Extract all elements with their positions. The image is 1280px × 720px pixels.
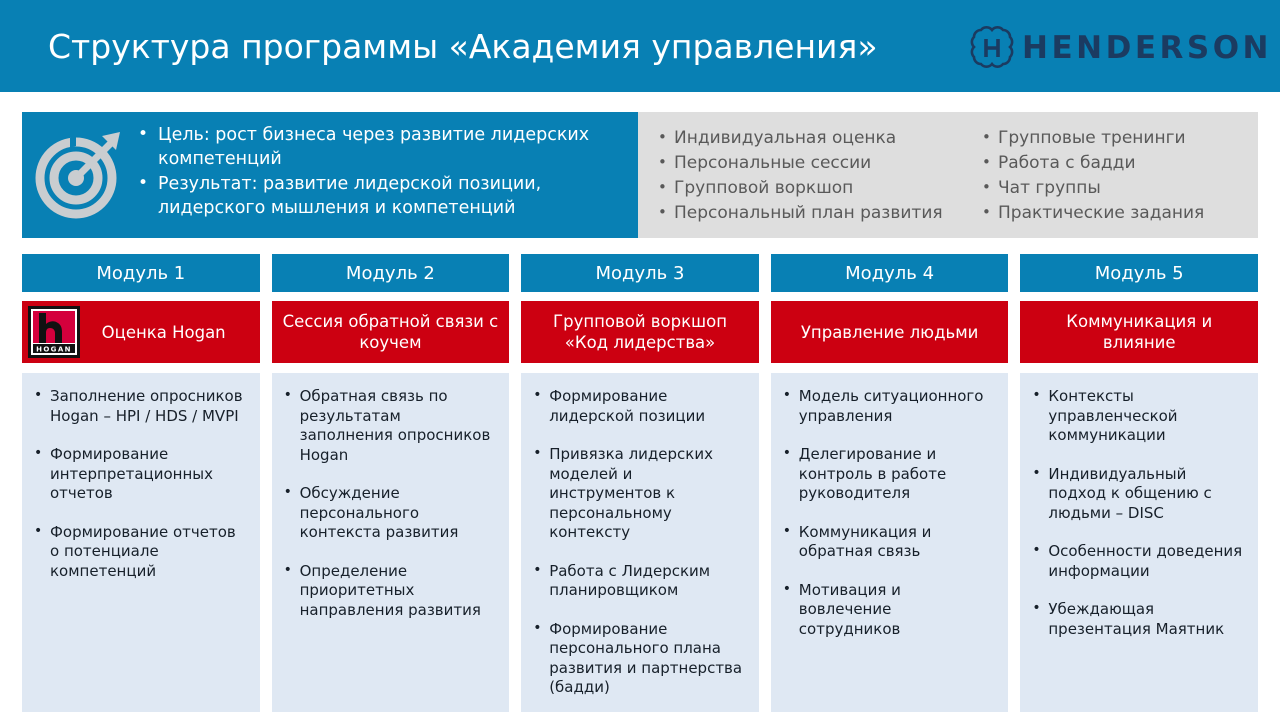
- brand-name: HENDERSON: [1022, 33, 1272, 64]
- module-bullet: Формирование отчетов о потенциале компет…: [30, 523, 248, 582]
- target-arrow-icon: [32, 126, 128, 226]
- service-item: Персональные сессии: [656, 151, 968, 176]
- module-bullet-list-4: Модель ситуационного управления Делегиро…: [779, 387, 997, 639]
- services-right-column: Групповые тренинги Работа с бадди Чат гр…: [968, 126, 1248, 238]
- module-body-5: Контексты управленческой коммуникации Ин…: [1020, 373, 1258, 712]
- service-item: Персональный план развития: [656, 201, 968, 226]
- service-item: Работа с бадди: [980, 151, 1248, 176]
- service-item: Чат группы: [980, 176, 1248, 201]
- module-bullet: Обсуждение персонального контекста разви…: [280, 484, 498, 543]
- module-header-1[interactable]: Модуль 1: [22, 254, 260, 292]
- module-title-1[interactable]: HOGAN Оценка Hogan: [22, 301, 260, 363]
- module-bullet: Формирование персонального плана развити…: [529, 620, 747, 698]
- row-spacer: [22, 292, 1258, 301]
- module-bullet-list-1: Заполнение опросников Hogan – HPI / HDS …: [30, 387, 248, 581]
- hogan-logo-icon: HOGAN: [28, 306, 80, 358]
- module-bullet: Модель ситуационного управления: [779, 387, 997, 426]
- module-title-5[interactable]: Коммуникация и влияние: [1020, 301, 1258, 363]
- module-bullet: Делегирование и контроль в работе руково…: [779, 445, 997, 504]
- row-spacer: [22, 363, 1258, 373]
- goal-box: Цель: рост бизнеса через развитие лидерс…: [22, 112, 638, 238]
- module-body-2: Обратная связь по результатам заполнения…: [272, 373, 510, 712]
- module-header-4[interactable]: Модуль 4: [771, 254, 1009, 292]
- module-title-row: HOGAN Оценка Hogan Сессия обратной связи…: [22, 301, 1258, 363]
- module-bullet-list-5: Контексты управленческой коммуникации Ин…: [1028, 387, 1246, 639]
- service-item: Групповой воркшоп: [656, 176, 968, 201]
- module-header-2[interactable]: Модуль 2: [272, 254, 510, 292]
- goal-bullet: Результат: развитие лидерской позиции, л…: [136, 172, 638, 220]
- goal-bullet-list: Цель: рост бизнеса через развитие лидерс…: [136, 123, 638, 221]
- module-bullet: Контексты управленческой коммуникации: [1028, 387, 1246, 446]
- module-title-3[interactable]: Групповой воркшоп «Код лидерства»: [521, 301, 759, 363]
- module-bullet: Работа с Лидерским планировщиком: [529, 562, 747, 601]
- module-bullet-list-3: Формирование лидерской позиции Привязка …: [529, 387, 747, 698]
- page-title: Структура программы «Академия управления…: [48, 27, 878, 66]
- svg-text:HOGAN: HOGAN: [36, 345, 72, 353]
- module-body-1: Заполнение опросников Hogan – HPI / HDS …: [22, 373, 260, 712]
- module-title-text-1: Оценка Hogan: [102, 322, 226, 343]
- module-bullet: Обратная связь по результатам заполнения…: [280, 387, 498, 465]
- module-bullet: Коммуникация и обратная связь: [779, 523, 997, 562]
- module-bullet: Формирование интерпретационных отчетов: [30, 445, 248, 504]
- module-bullet: Формирование лидерской позиции: [529, 387, 747, 426]
- module-header-row: Модуль 1 Модуль 2 Модуль 3 Модуль 4 Моду…: [22, 254, 1258, 292]
- services-left-column: Индивидуальная оценка Персональные сесси…: [638, 126, 968, 238]
- slide-root: Структура программы «Академия управления…: [0, 0, 1280, 720]
- module-body-row: Заполнение опросников Hogan – HPI / HDS …: [22, 373, 1258, 712]
- module-bullet: Привязка лидерских моделей и инструменто…: [529, 445, 747, 543]
- module-bullet: Заполнение опросников Hogan – HPI / HDS …: [30, 387, 248, 426]
- service-item: Групповые тренинги: [980, 126, 1248, 151]
- module-bullet: Убеждающая презентация Маятник: [1028, 600, 1246, 639]
- module-header-5[interactable]: Модуль 5: [1020, 254, 1258, 292]
- module-title-4[interactable]: Управление людьми: [771, 301, 1009, 363]
- slide-header: Структура программы «Академия управления…: [0, 0, 1280, 92]
- services-box: Индивидуальная оценка Персональные сесси…: [638, 112, 1258, 238]
- goal-bullet: Цель: рост бизнеса через развитие лидерс…: [136, 123, 638, 171]
- module-header-3[interactable]: Модуль 3: [521, 254, 759, 292]
- module-body-4: Модель ситуационного управления Делегиро…: [771, 373, 1009, 712]
- module-bullet: Индивидуальный подход к общению с людьми…: [1028, 465, 1246, 524]
- module-bullet: Особенности доведения информации: [1028, 542, 1246, 581]
- module-bullet: Мотивация и вовлечение сотрудников: [779, 581, 997, 640]
- module-title-2[interactable]: Сессия обратной связи с коучем: [272, 301, 510, 363]
- module-bullet-list-2: Обратная связь по результатам заполнения…: [280, 387, 498, 620]
- service-item: Практические задания: [980, 201, 1248, 226]
- module-body-3: Формирование лидерской позиции Привязка …: [521, 373, 759, 712]
- service-item: Индивидуальная оценка: [656, 126, 968, 151]
- henderson-monogram-icon: [970, 26, 1014, 70]
- module-bullet: Определение приоритетных направления раз…: [280, 562, 498, 621]
- modules-grid: Модуль 1 Модуль 2 Модуль 3 Модуль 4 Моду…: [22, 254, 1258, 712]
- brand-lockup: HENDERSON: [970, 26, 1272, 70]
